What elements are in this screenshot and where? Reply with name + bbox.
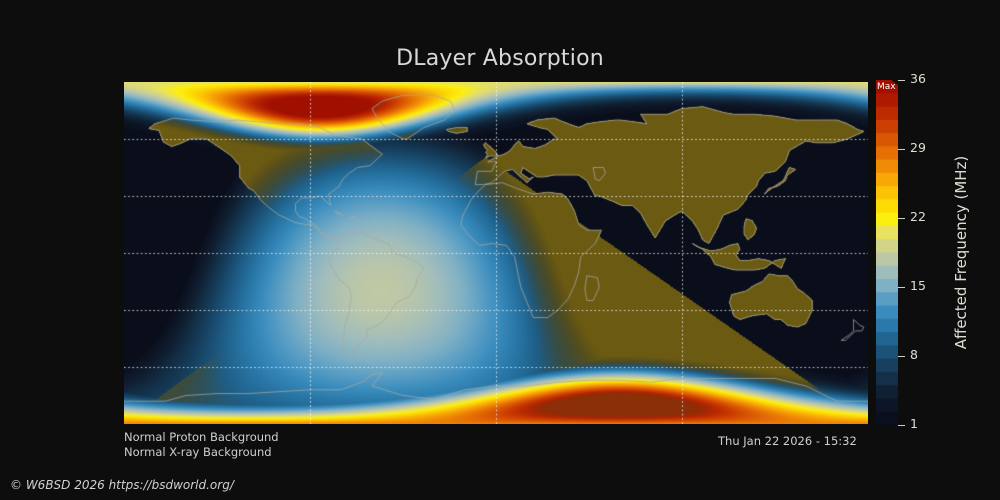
colorbar-tick-label: 36 [910, 71, 926, 86]
xray-background-note: Normal X-ray Background [124, 445, 272, 459]
colorbar-tick-label: 29 [910, 140, 926, 155]
colorbar-tick-label: 1 [910, 416, 918, 431]
colorbar-tick-label: 22 [910, 209, 926, 224]
colorbar-tick-label: 15 [910, 278, 926, 293]
proton-background-note: Normal Proton Background [124, 430, 279, 444]
copyright-footer: © W6BSD 2026 https://bsdworld.org/ [10, 478, 234, 492]
colorbar-tick-mark [898, 287, 905, 288]
colorbar-tick-mark [898, 80, 905, 81]
colorbar-tick-mark [898, 425, 905, 426]
timestamp-label: Thu Jan 22 2026 - 15:32 [718, 434, 857, 448]
colorbar-tick-mark [898, 356, 905, 357]
colorbar-tick-mark [898, 149, 905, 150]
colorbar-axis-label-holder: Affected Frequency (MHz) [952, 80, 972, 425]
world-absorption-map [124, 82, 868, 424]
absorption-map-canvas [124, 82, 868, 424]
colorbar-tick-label: 8 [910, 347, 918, 362]
colorbar-axis-label: Affected Frequency (MHz) [952, 80, 970, 425]
colorbar [876, 80, 898, 425]
page-title: DLayer Absorption [0, 46, 1000, 71]
colorbar-gradient [876, 80, 898, 425]
colorbar-tick-mark [898, 218, 905, 219]
dlayer-absorption-view: DLayer Absorption Max 3629221581 Affecte… [0, 0, 1000, 500]
